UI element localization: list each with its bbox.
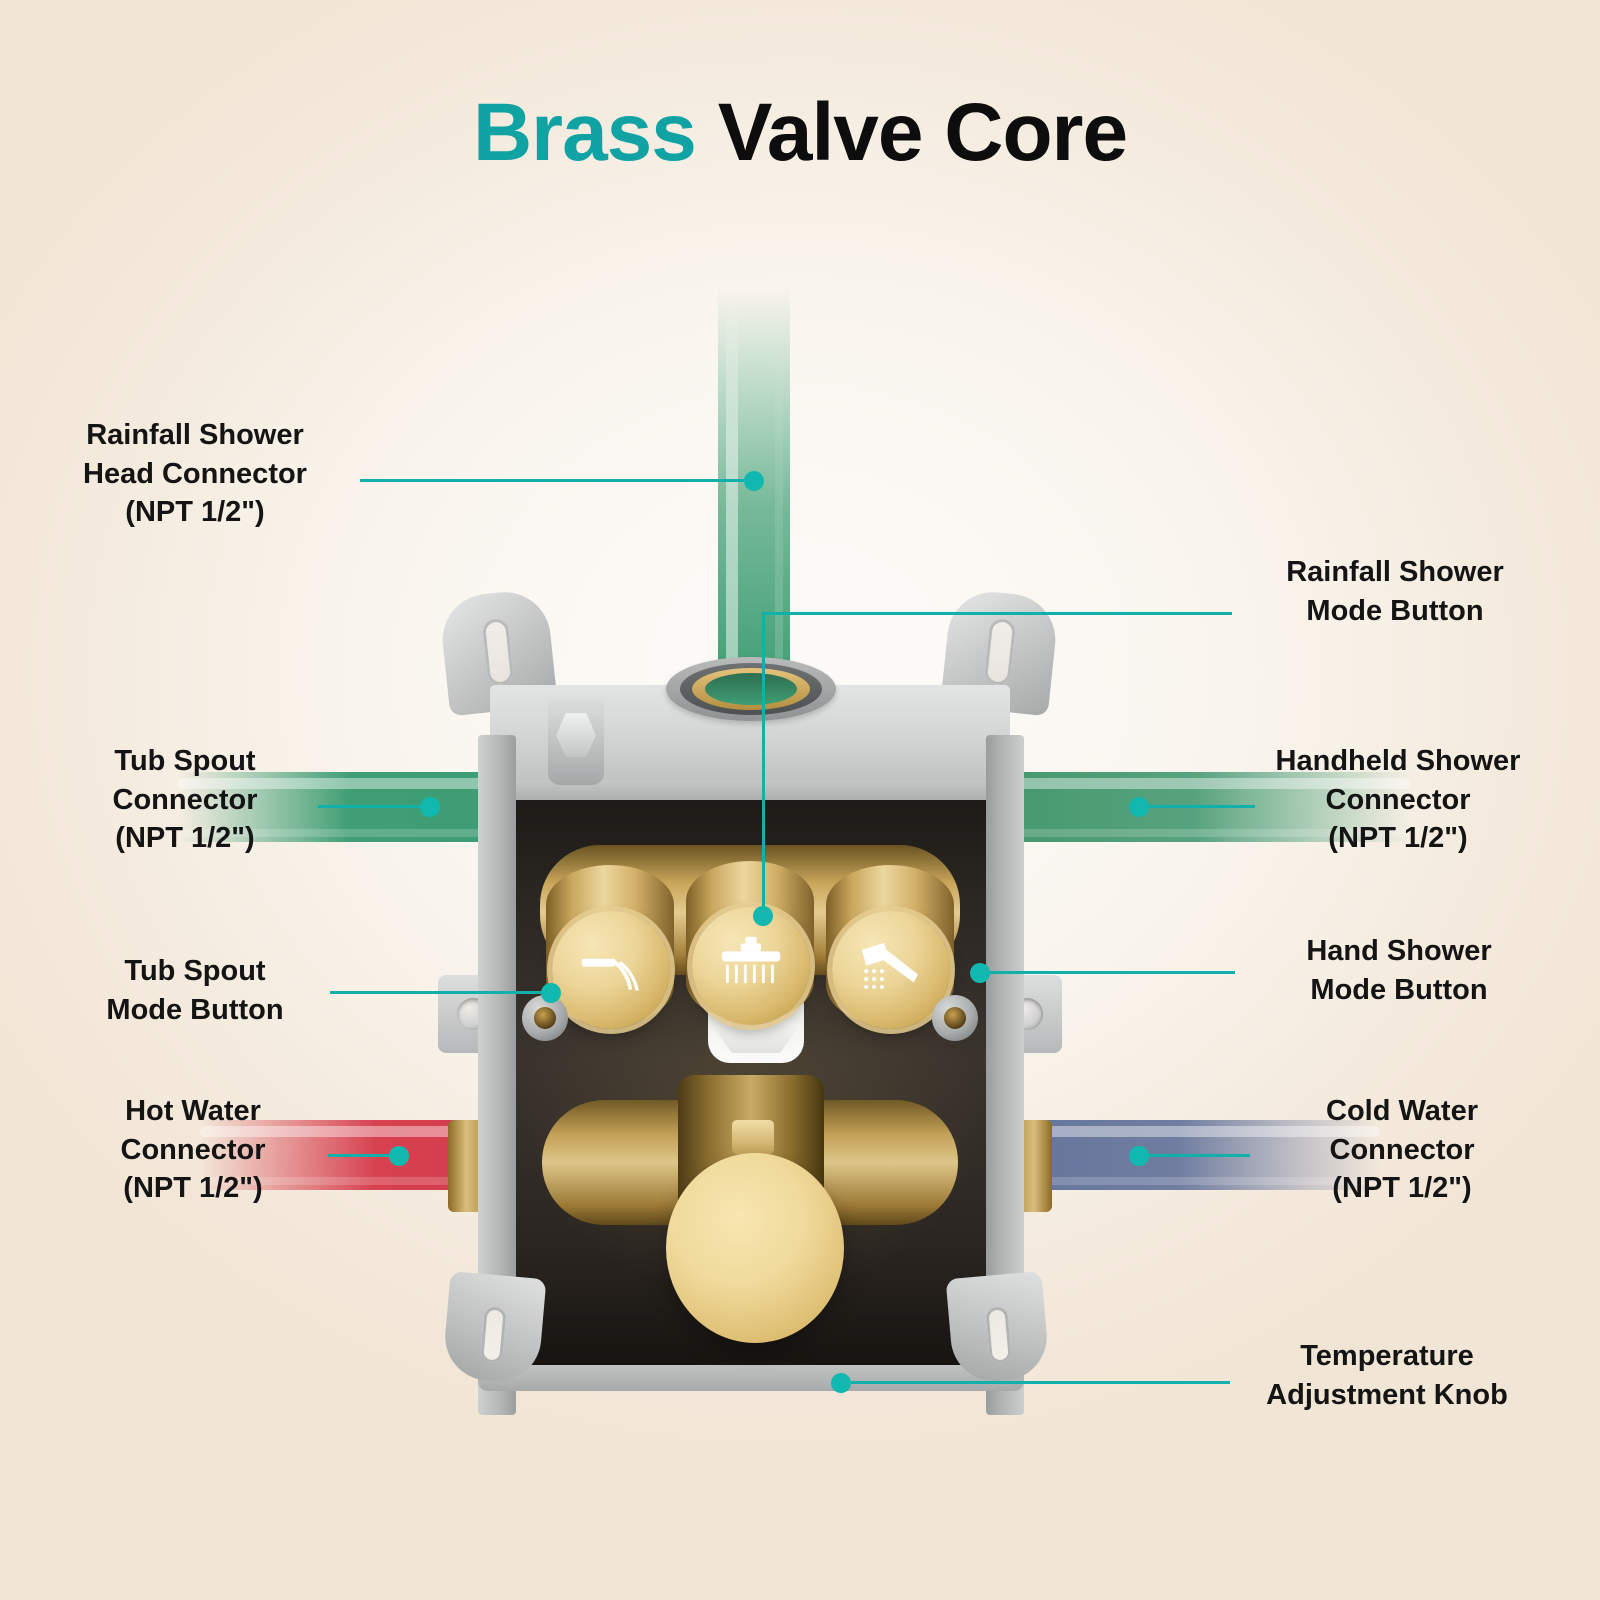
label-temp-knob: Temperature Adjustment Knob bbox=[1228, 1337, 1546, 1414]
label-hot-connector: Hot Water Connector (NPT 1/2") bbox=[68, 1092, 318, 1208]
leader-tub-mode bbox=[330, 991, 550, 994]
label-hot-connector-line3: (NPT 1/2") bbox=[68, 1169, 318, 1208]
tub-spout-icon bbox=[575, 934, 647, 1006]
leader-dot-cold-connector bbox=[1129, 1146, 1149, 1166]
leader-cold-connector bbox=[1140, 1154, 1250, 1157]
label-rainfall-mode-line1: Rainfall Shower bbox=[1245, 553, 1545, 592]
label-hot-connector-line1: Hot Water bbox=[68, 1092, 318, 1131]
label-tub-connector-line3: (NPT 1/2") bbox=[60, 819, 310, 858]
leader-dot-handheld-connector bbox=[1129, 797, 1149, 817]
label-tub-connector: Tub Spout Connector (NPT 1/2") bbox=[60, 742, 310, 858]
screw-boss-left bbox=[522, 995, 568, 1041]
label-hand-mode: Hand Shower Mode Button bbox=[1250, 932, 1548, 1009]
label-handheld-connector-line3: (NPT 1/2") bbox=[1248, 819, 1548, 858]
leader-handheld-connector bbox=[1140, 805, 1255, 808]
leader-dot-tub-mode bbox=[541, 983, 561, 1003]
label-tub-connector-line2: Connector bbox=[60, 781, 310, 820]
diagram-canvas: Brass Valve Core bbox=[0, 0, 1600, 1600]
label-hand-mode-line2: Mode Button bbox=[1250, 971, 1548, 1010]
temperature-adjustment-knob[interactable] bbox=[666, 1153, 844, 1343]
hex-bolt bbox=[548, 693, 604, 785]
label-cold-connector: Cold Water Connector (NPT 1/2") bbox=[1262, 1092, 1542, 1208]
leader-dot-tub-connector bbox=[420, 797, 440, 817]
page-title: Brass Valve Core bbox=[0, 92, 1600, 174]
leader-dot-rainfall-mode bbox=[753, 906, 773, 926]
label-cold-connector-line2: Connector bbox=[1262, 1131, 1542, 1170]
label-rainfall-connector-line3: (NPT 1/2") bbox=[50, 493, 340, 532]
label-tub-mode: Tub Spout Mode Button bbox=[70, 952, 320, 1029]
leader-dot-hot-connector bbox=[389, 1146, 409, 1166]
leader-hand-mode bbox=[980, 971, 1235, 974]
label-handheld-connector-line2: Connector bbox=[1248, 781, 1548, 820]
valve-body-bottom-edge bbox=[478, 1365, 1024, 1391]
leader-dot-hand-mode bbox=[970, 963, 990, 983]
leader-rainfall-connector bbox=[360, 479, 750, 482]
label-tub-connector-line1: Tub Spout bbox=[60, 742, 310, 781]
label-hot-connector-line2: Connector bbox=[68, 1131, 318, 1170]
label-temp-knob-line1: Temperature bbox=[1228, 1337, 1546, 1376]
leader-dot-rainfall-connector bbox=[744, 471, 764, 491]
temperature-indicator-tab bbox=[732, 1120, 774, 1154]
label-hand-mode-line1: Hand Shower bbox=[1250, 932, 1548, 971]
label-rainfall-connector-line1: Rainfall Shower bbox=[50, 416, 340, 455]
hand-shower-icon bbox=[855, 934, 927, 1006]
label-rainfall-mode-line2: Mode Button bbox=[1245, 592, 1545, 631]
label-cold-connector-line3: (NPT 1/2") bbox=[1262, 1169, 1542, 1208]
title-main-words: Valve Core bbox=[718, 87, 1127, 178]
leader-hot-connector bbox=[328, 1154, 398, 1157]
label-rainfall-connector-line2: Head Connector bbox=[50, 455, 340, 494]
rainfall-shower-head-icon bbox=[715, 930, 787, 1002]
leader-dot-temp-knob bbox=[831, 1373, 851, 1393]
leader-rainfall-mode-h bbox=[762, 612, 1232, 615]
leader-rainfall-mode-v bbox=[762, 612, 765, 912]
label-rainfall-mode: Rainfall Shower Mode Button bbox=[1245, 553, 1545, 630]
leader-temp-knob bbox=[840, 1381, 1230, 1384]
label-handheld-connector: Handheld Shower Connector (NPT 1/2") bbox=[1248, 742, 1548, 858]
label-tub-mode-line1: Tub Spout bbox=[70, 952, 320, 991]
outlet-bore bbox=[705, 673, 797, 705]
title-accent-word: Brass bbox=[473, 87, 696, 178]
label-tub-mode-line2: Mode Button bbox=[70, 991, 320, 1030]
leader-tub-connector bbox=[318, 805, 428, 808]
label-rainfall-connector: Rainfall Shower Head Connector (NPT 1/2"… bbox=[50, 416, 340, 532]
brass-valve-core-assembly bbox=[430, 575, 1070, 1405]
label-handheld-connector-line1: Handheld Shower bbox=[1248, 742, 1548, 781]
label-temp-knob-line2: Adjustment Knob bbox=[1228, 1376, 1546, 1415]
label-cold-connector-line1: Cold Water bbox=[1262, 1092, 1542, 1131]
screw-boss-right bbox=[932, 995, 978, 1041]
